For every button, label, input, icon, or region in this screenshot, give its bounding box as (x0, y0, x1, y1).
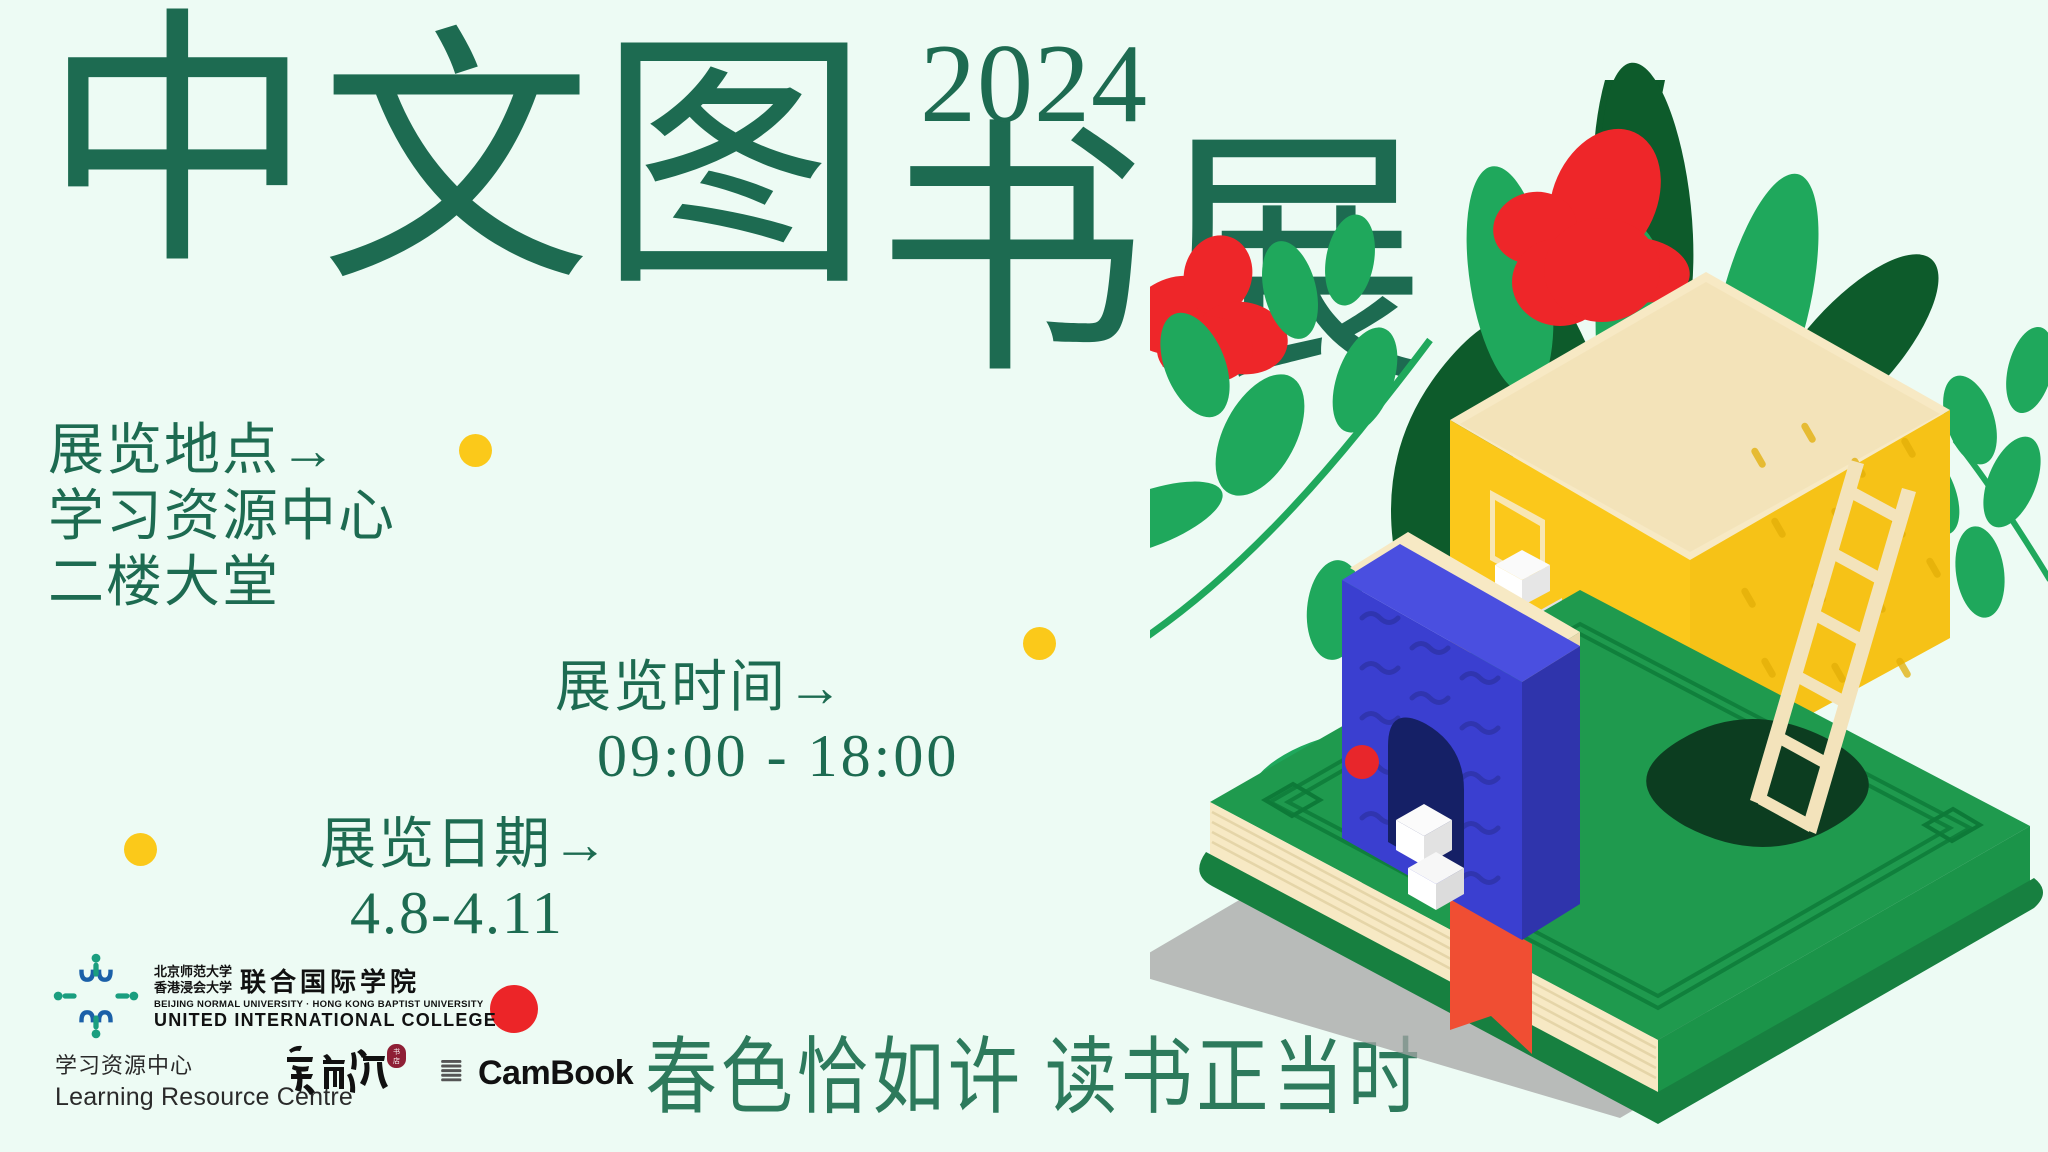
cambook-logo: CamBook (420, 1048, 633, 1099)
info-date-label: 展览日期→ (320, 812, 610, 878)
info-time-label: 展览时间→ (555, 655, 959, 721)
decor-dot-yellow (459, 434, 492, 467)
info-place-label: 展览地点→ (48, 418, 396, 484)
info-place: 展览地点→ 学习资源中心 二楼大堂 (48, 418, 396, 616)
info-date: 展览日期→ 4.8-4.11 (320, 812, 610, 949)
uic-logo-text: 北京师范大学 香港浸会大学 联合国际学院 BEIJING NORMAL UNIV… (154, 962, 497, 1031)
xueeryou-logo: 书 店 (283, 1040, 409, 1104)
decor-dot-red (490, 985, 538, 1033)
uic-cn-small-lines: 北京师范大学 香港浸会大学 (154, 964, 232, 997)
title-char-3: 图 (598, 32, 876, 304)
decor-dot-yellow (124, 833, 157, 866)
title-char-2: 文 (320, 28, 598, 300)
uic-cn-big: 联合国际学院 (240, 962, 420, 999)
poster-canvas: 中文图书展 2024 展览地点→ 学习资源中心 二楼大堂 展览时间→ 09:00… (0, 0, 2048, 1152)
uic-logo: 北京师范大学 香港浸会大学 联合国际学院 BEIJING NORMAL UNIV… (52, 952, 497, 1040)
uic-en-small: BEIJING NORMAL UNIVERSITY · HONG KONG BA… (154, 999, 497, 1010)
info-date-value: 4.8-4.11 (320, 878, 610, 949)
title-char-4: 书 (876, 120, 1154, 392)
svg-text:书: 书 (393, 1047, 400, 1056)
book-illustration (1150, 20, 2048, 1130)
title-char-1: 中 (42, 10, 320, 282)
info-time-value: 09:00 - 18:00 (555, 721, 959, 792)
cambook-wordmark: CamBook (478, 1054, 633, 1093)
cambook-mark-icon (420, 1048, 466, 1099)
svg-text:店: 店 (393, 1056, 400, 1065)
year-label: 2024 (920, 28, 1148, 140)
book-green-base (1150, 590, 2043, 1124)
uic-mark-icon (52, 952, 140, 1040)
info-place-value-2: 二楼大堂 (48, 550, 396, 616)
decor-dot-yellow (1023, 627, 1056, 660)
uic-cn-small-line1: 北京师范大学 (154, 964, 232, 979)
uic-cn-small-line2: 香港浸会大学 (154, 980, 232, 995)
uic-en-big: UNITED INTERNATIONAL COLLEGE (154, 1010, 497, 1031)
info-place-value-1: 学习资源中心 (48, 484, 396, 550)
info-time: 展览时间→ 09:00 - 18:00 (555, 655, 959, 792)
